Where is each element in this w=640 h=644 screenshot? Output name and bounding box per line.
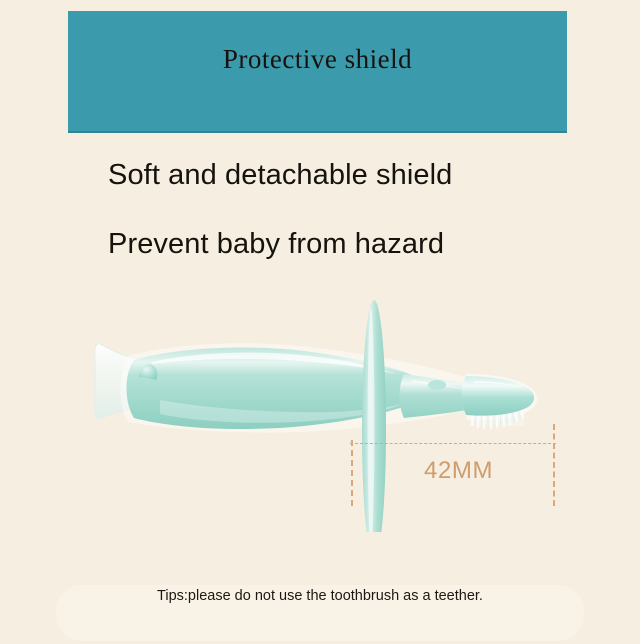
page-title: Protective shield: [68, 44, 567, 75]
tips-text: Tips:please do not use the toothbrush as…: [0, 588, 640, 604]
dimension-line-left: [351, 440, 353, 506]
header-banner: Protective shield: [68, 11, 567, 133]
dimension-horizontal-line: [350, 443, 556, 444]
dimension-line-right: [553, 424, 555, 506]
toothbrush-illustration: [0, 282, 640, 532]
product-image: [0, 282, 640, 532]
neck-bump: [428, 380, 446, 390]
product-detail-page: Protective shield Soft and detachable sh…: [0, 0, 640, 644]
feature-line-1: Soft and detachable shield: [108, 159, 452, 192]
feature-line-2: Prevent baby from hazard: [108, 228, 444, 261]
dimension-label: 42MM: [424, 457, 493, 485]
